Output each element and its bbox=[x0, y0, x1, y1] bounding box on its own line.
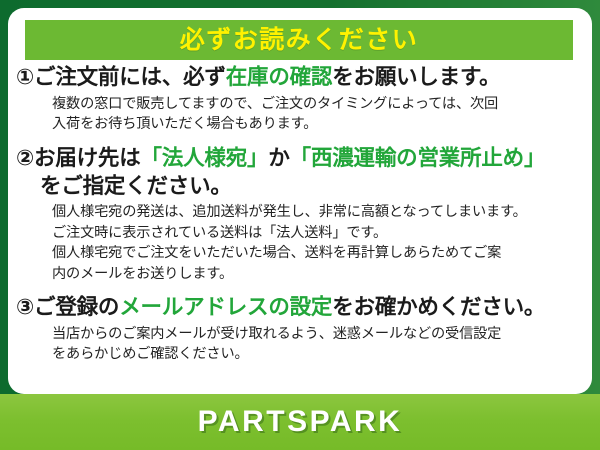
notice-item: ③ご登録のメールアドレスの設定をお確かめください。当店からのご案内メールが受け取… bbox=[16, 294, 580, 364]
notice-item-heading-highlight: 「法人様宛」 bbox=[141, 146, 269, 170]
footer-brand-band: PARTSPARK bbox=[0, 394, 600, 450]
notice-item-body-line: 個人様宅宛の発送は、追加送料が発生し、非常に高額となってしまいます。 bbox=[52, 202, 580, 222]
notice-item-body-line: をあらかじめご確認ください。 bbox=[52, 344, 580, 364]
notice-item-body: 複数の窓口で販売してますので、ご注文のタイミングによっては、次回入荷をお待ち頂い… bbox=[16, 92, 580, 135]
notice-item-heading-text: お届け先は bbox=[34, 146, 141, 170]
notice-item-heading: ①ご注文前には、必ず在庫の確認をお願いします。 bbox=[16, 64, 580, 92]
notice-item-heading-text: をお願いします。 bbox=[332, 65, 500, 89]
notice-item-heading-text: ご注文前には、必ず bbox=[34, 65, 226, 89]
notice-item: ①ご注文前には、必ず在庫の確認をお願いします。複数の窓口で販売してますので、ご注… bbox=[16, 64, 580, 134]
notice-item-heading-text: か bbox=[268, 146, 289, 170]
notice-items-list: ①ご注文前には、必ず在庫の確認をお願いします。複数の窓口で販売してますので、ご注… bbox=[8, 64, 592, 369]
notice-item-body-line: ご注文時に表示されている送料は「法人送料」です。 bbox=[52, 223, 580, 243]
notice-item-heading-highlight: 「西濃運輸の営業所止め」 bbox=[290, 146, 546, 170]
notice-item: ②お届け先は「法人様宛」か「西濃運輸の営業所止め」をご指定ください。個人様宅宛の… bbox=[16, 145, 580, 284]
notice-item-heading-continuation: をご指定ください。 bbox=[16, 173, 580, 201]
notice-item-body: 個人様宅宛の発送は、追加送料が発生し、非常に高額となってしまいます。ご注文時に表… bbox=[16, 200, 580, 284]
notice-item-body-line: 当店からのご案内メールが受け取れるよう、迷惑メールなどの受信設定 bbox=[52, 324, 580, 344]
notice-item-body-line: 複数の窓口で販売してますので、ご注文のタイミングによっては、次回 bbox=[52, 94, 580, 114]
notice-item-heading: ③ご登録のメールアドレスの設定をお確かめください。 bbox=[16, 294, 580, 322]
notice-item-heading-highlight: 在庫の確認 bbox=[226, 65, 333, 89]
notice-header-title: 必ずお読みください bbox=[180, 28, 419, 53]
notice-card: 必ずお読みください ①ご注文前には、必ず在庫の確認をお願いします。複数の窓口で販… bbox=[0, 0, 600, 450]
notice-item-number: ① bbox=[16, 65, 34, 89]
notice-item-heading-highlight: メールアドレスの設定 bbox=[119, 295, 332, 319]
notice-panel: 必ずお読みください ①ご注文前には、必ず在庫の確認をお願いします。複数の窓口で販… bbox=[8, 8, 592, 394]
notice-header-band: 必ずお読みください bbox=[25, 20, 573, 60]
notice-item-heading-text: ご登録の bbox=[34, 295, 119, 319]
notice-item-body-line: 入荷をお待ち頂いただく場合もあります。 bbox=[52, 114, 580, 134]
notice-item-body-line: 内のメールをお送りします。 bbox=[52, 264, 580, 284]
notice-item-heading-text: をお確かめください。 bbox=[332, 295, 545, 319]
notice-item-heading: ②お届け先は「法人様宛」か「西濃運輸の営業所止め」をご指定ください。 bbox=[16, 145, 580, 200]
brand-logo-text: PARTSPARK bbox=[198, 407, 403, 437]
notice-item-number: ② bbox=[16, 146, 34, 170]
notice-item-body-line: 個人様宅宛でご注文をいただいた場合、送料を再計算しあらためてご案 bbox=[52, 243, 580, 263]
notice-item-body: 当店からのご案内メールが受け取れるよう、迷惑メールなどの受信設定をあらかじめご確… bbox=[16, 322, 580, 365]
notice-item-number: ③ bbox=[16, 295, 34, 319]
